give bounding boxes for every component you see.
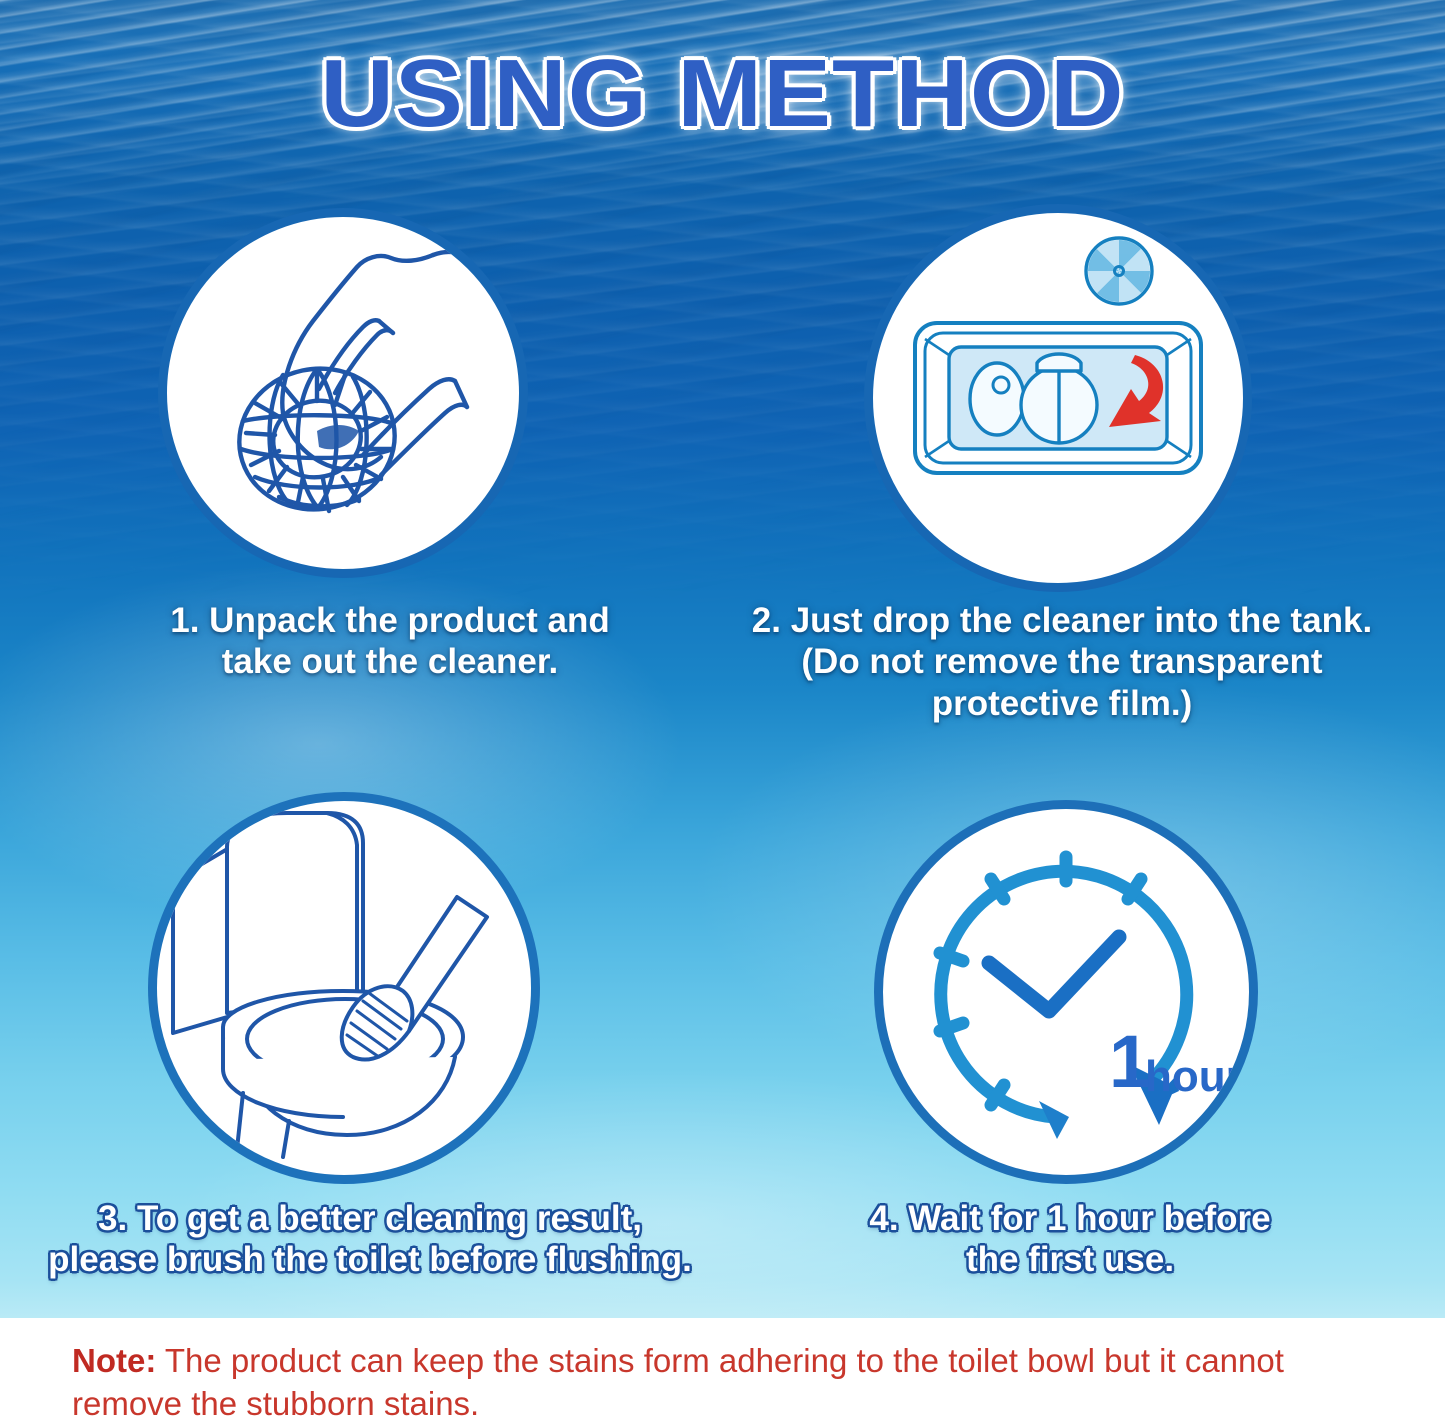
note-label: Note: xyxy=(72,1342,156,1379)
step-3-caption-line-1: 3. To get a better cleaning result, xyxy=(20,1198,720,1239)
infographic-page: USING METHOD xyxy=(0,0,1445,1424)
step-2-caption: 2. Just drop the cleaner into the tank. … xyxy=(712,600,1412,724)
step-4-caption-line-2: the first use. xyxy=(740,1239,1400,1280)
step-3-caption: 3. To get a better cleaning result, plea… xyxy=(20,1198,720,1281)
toilet-tank-drop-cleaner-icon xyxy=(873,213,1243,583)
note-body: The product can keep the stains form adh… xyxy=(72,1342,1284,1422)
note-text: Note: The product can keep the stains fo… xyxy=(72,1340,1392,1424)
clock-hour-unit: hour xyxy=(1145,1052,1243,1101)
step-1-caption-line-2: take out the cleaner. xyxy=(60,641,720,682)
step-4-caption: 4. Wait for 1 hour before the first use. xyxy=(740,1198,1400,1281)
clock-one-hour-icon: 1 hour xyxy=(883,809,1249,1175)
step-3-caption-line-2: please brush the toilet before flushing. xyxy=(20,1239,720,1280)
hand-holding-cleaner-ball-icon xyxy=(167,217,519,569)
page-title: USING METHOD xyxy=(0,46,1445,142)
step-4-caption-line-1: 4. Wait for 1 hour before xyxy=(740,1198,1400,1239)
step-2-caption-line-3: protective film.) xyxy=(712,683,1412,724)
step-2-caption-line-1: 2. Just drop the cleaner into the tank. xyxy=(712,600,1412,641)
step-1-caption: 1. Unpack the product and take out the c… xyxy=(60,600,720,683)
step-4-icon-circle: 1 hour xyxy=(874,800,1258,1184)
clock-hour-value: 1 xyxy=(1109,1020,1150,1103)
step-2-caption-line-2: (Do not remove the transparent xyxy=(712,641,1412,682)
toilet-with-brush-icon xyxy=(157,801,531,1175)
step-3-icon-circle xyxy=(148,792,540,1184)
step-1-icon-circle xyxy=(158,208,528,578)
step-1-caption-line-1: 1. Unpack the product and xyxy=(60,600,720,641)
step-2-icon-circle xyxy=(864,204,1252,592)
